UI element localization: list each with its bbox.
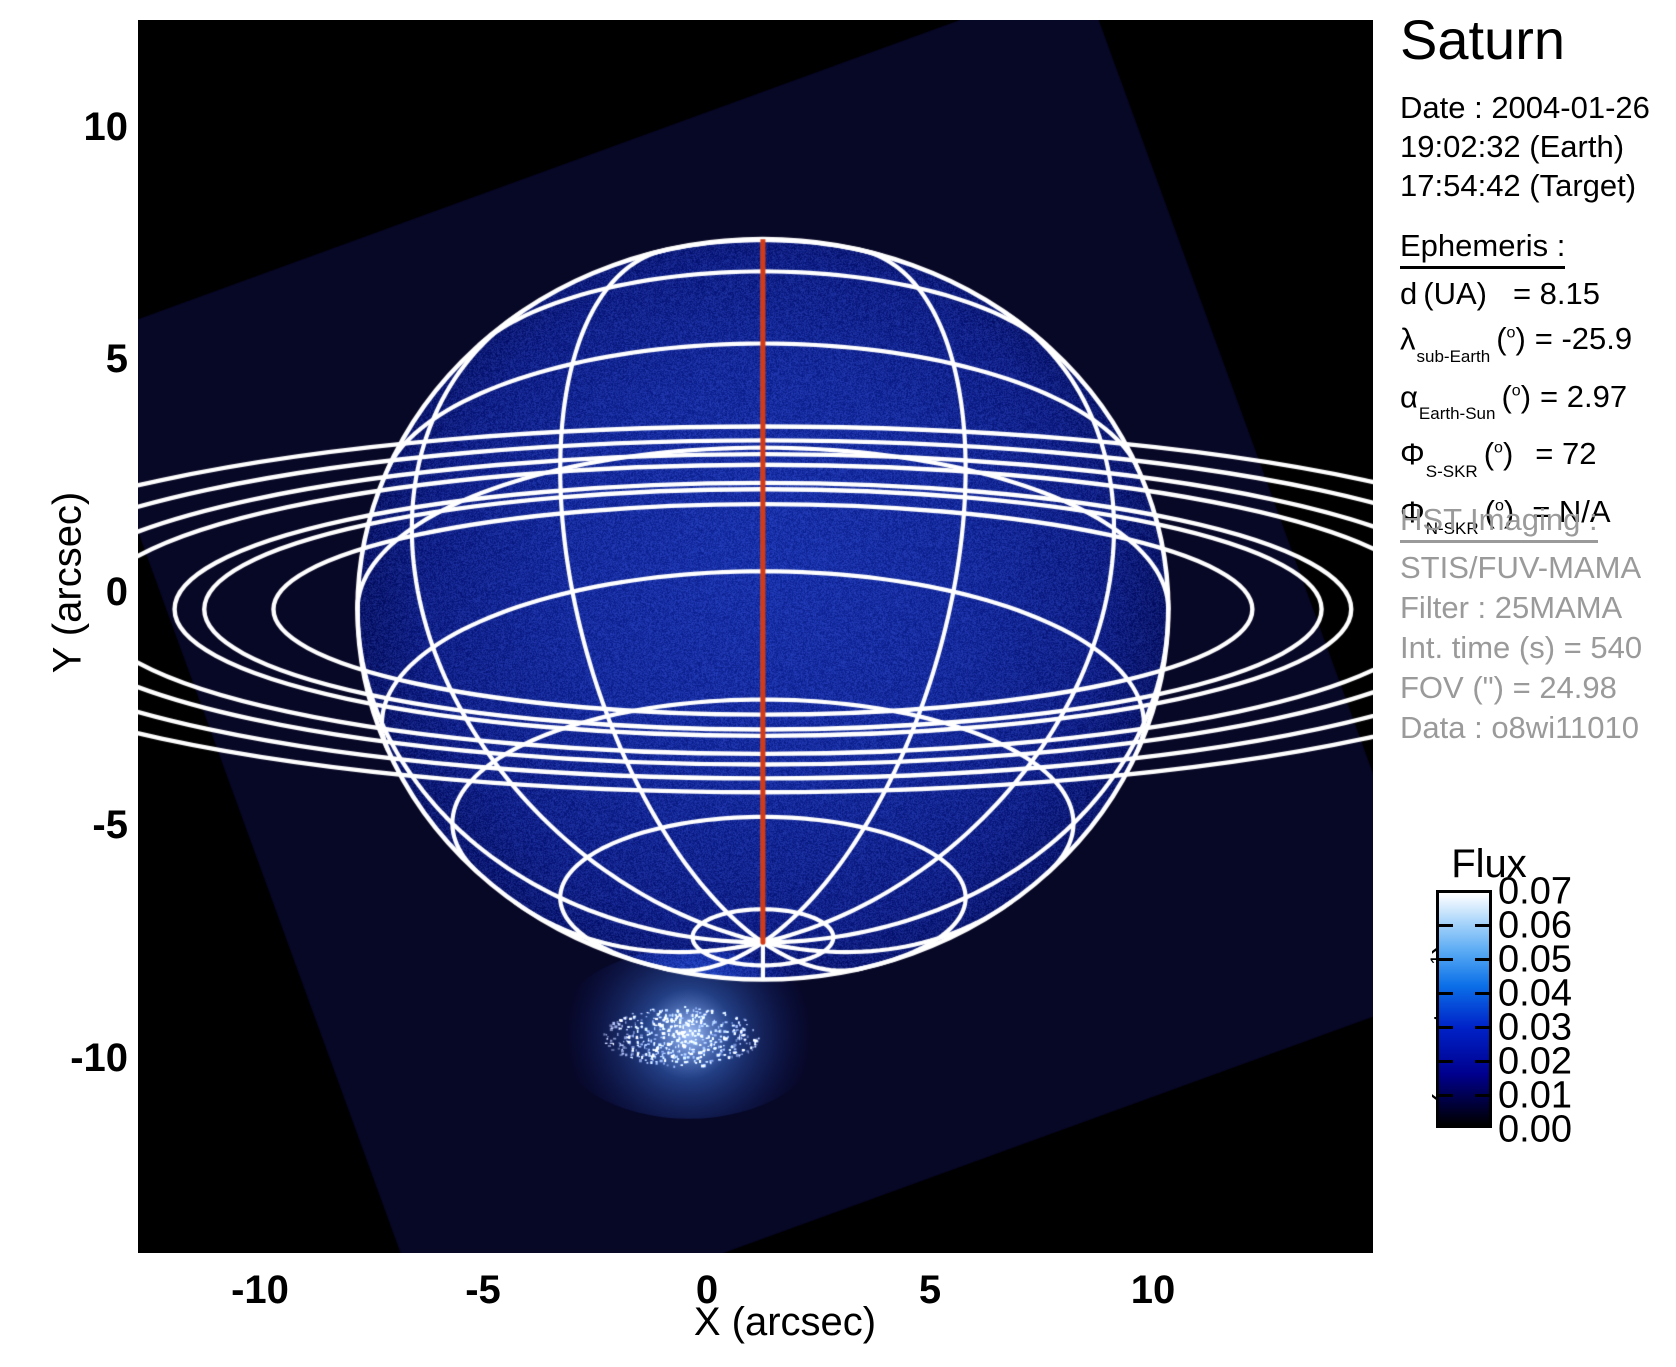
phi-symbol: Φ <box>1400 436 1425 471</box>
hst-fov: FOV (") = 24.98 <box>1400 668 1672 708</box>
alpha-symbol: α <box>1400 379 1418 414</box>
colorbar-tick <box>1436 1060 1492 1063</box>
ephemeris-subscript: S-SKR <box>1425 462 1478 481</box>
ephemeris-subscript: Earth-Sun <box>1418 404 1496 423</box>
lambda-symbol: λ <box>1400 321 1416 356</box>
y-axis-title: Y (arcsec) <box>46 453 91 713</box>
y-tick-label: -10 <box>18 1036 128 1081</box>
colorbar-tick <box>1436 1094 1492 1097</box>
flux-colorbar: Flux (counts.s-1) 0.07 0.06 0.05 0.04 0.… <box>1392 840 1676 1240</box>
hst-integration-time: Int. time (s) = 540 <box>1400 628 1672 668</box>
hst-imaging-heading: HST Imaging : <box>1400 502 1598 543</box>
x-axis-title: X (arcsec) <box>635 1300 935 1345</box>
ephemeris-value: = 2.97 <box>1531 377 1627 417</box>
y-tick-label: 10 <box>18 105 128 150</box>
ephemeris-symbol: d <box>1400 276 1417 311</box>
image-plot-area <box>138 20 1373 1253</box>
ephemeris-unit: (o) <box>1495 379 1531 414</box>
ephemeris-value: = 72 <box>1513 434 1596 474</box>
colorbar-tick <box>1436 958 1492 961</box>
ephemeris-unit: (o) <box>1490 321 1526 356</box>
ephemeris-subscript: sub-Earth <box>1416 347 1491 366</box>
x-tick-label: 10 <box>1093 1268 1213 1313</box>
ephemeris-unit: (UA) <box>1417 276 1487 311</box>
colorbar-tick <box>1436 890 1492 893</box>
x-tick-label: -5 <box>423 1268 543 1313</box>
target-time-line: 17:54:42 (Target) <box>1400 166 1650 205</box>
colorbar-tick <box>1436 1026 1492 1029</box>
hst-imaging-block: HST Imaging : STIS/FUV-MAMA Filter : 25M… <box>1400 502 1672 748</box>
ephemeris-heading: Ephemeris : <box>1400 228 1565 269</box>
y-tick-label: 5 <box>18 337 128 382</box>
y-tick-label: -5 <box>18 803 128 848</box>
page-title: Saturn <box>1400 10 1565 70</box>
observation-date-block: Date : 2004-01-26 19:02:32 (Earth) 17:54… <box>1400 88 1650 205</box>
ephemeris-value: = -25.9 <box>1526 319 1632 359</box>
hst-filter: Filter : 25MAMA <box>1400 588 1672 628</box>
colorbar-tick <box>1436 992 1492 995</box>
colorbar-tick-label: 0.00 <box>1498 1109 1572 1152</box>
ephemeris-row-sub-earth-latitude: λsub-Earth(o) = -25.9 <box>1400 314 1672 372</box>
ephemeris-row-distance: d(UA) = 8.15 <box>1400 274 1672 314</box>
ephemeris-block: Ephemeris : d(UA) = 8.15 λsub-Earth(o) =… <box>1400 228 1672 544</box>
earth-time-line: 19:02:32 (Earth) <box>1400 127 1650 166</box>
ephemeris-row-phase-angle: αEarth-Sun(o) = 2.97 <box>1400 372 1672 430</box>
hst-dataset-id: Data : o8wi11010 <box>1400 708 1672 748</box>
hst-instrument: STIS/FUV-MAMA <box>1400 548 1672 588</box>
x-tick-label: -10 <box>200 1268 320 1313</box>
ephemeris-value: = 8.15 <box>1487 274 1600 314</box>
colorbar-tick <box>1436 924 1492 927</box>
ephemeris-row-south-skr-phase: ΦS-SKR(o) = 72 <box>1400 429 1672 487</box>
date-line: Date : 2004-01-26 <box>1400 88 1650 127</box>
info-panel: Saturn Date : 2004-01-26 19:02:32 (Earth… <box>1392 0 1676 1367</box>
ephemeris-unit: (o) <box>1478 436 1514 471</box>
saturn-fuv-image <box>138 20 1373 1253</box>
